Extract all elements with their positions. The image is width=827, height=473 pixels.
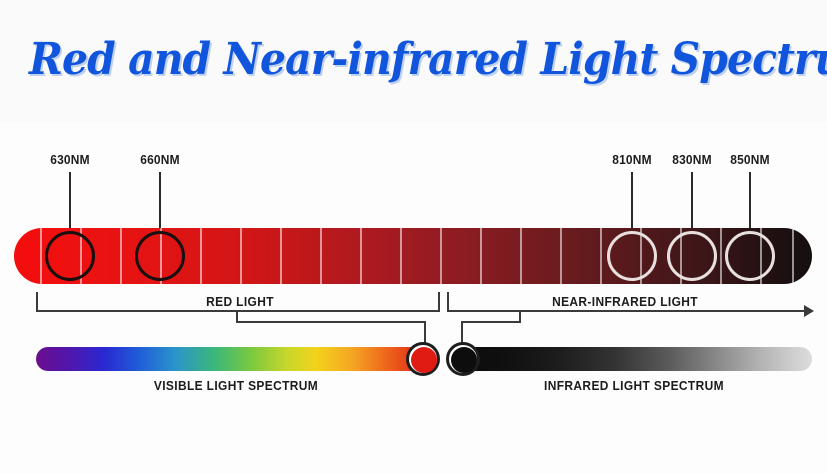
axis-nir-line bbox=[447, 310, 805, 312]
wavelength-ring-830nm bbox=[667, 231, 717, 281]
wavelength-label-810nm: 810NM bbox=[612, 152, 651, 167]
bar-tick bbox=[360, 228, 362, 284]
title-band: Red and Near-infrared Light Spectrums bbox=[0, 0, 827, 122]
spectrum-label-visible: VISIBLE LIGHT SPECTRUM bbox=[154, 378, 318, 393]
wavelength-ring-630nm bbox=[45, 231, 95, 281]
wavelength-label-850nm: 850NM bbox=[730, 152, 769, 167]
axis-arrow-icon bbox=[804, 305, 814, 317]
axis-red-light-line bbox=[36, 310, 440, 312]
wavelength-ring-810nm bbox=[607, 231, 657, 281]
axis-nir-start-cap bbox=[447, 292, 449, 312]
bracket-red-horizontal bbox=[236, 321, 426, 323]
section-label-red-light: RED LIGHT bbox=[206, 294, 274, 309]
infrared-light-spectrum-bar bbox=[452, 347, 812, 371]
infographic-root: Red and Near-infrared Light Spectrums 63… bbox=[0, 0, 827, 473]
bar-tick bbox=[792, 228, 794, 284]
visible-light-spectrum-bar bbox=[36, 347, 436, 371]
bar-tick bbox=[400, 228, 402, 284]
axis-red-light-end-cap bbox=[438, 292, 440, 312]
wavelength-label-660nm: 660NM bbox=[140, 152, 179, 167]
page-title: Red and Near-infrared Light Spectrums bbox=[29, 34, 798, 85]
bar-tick bbox=[280, 228, 282, 284]
bar-tick bbox=[480, 228, 482, 284]
bar-tick bbox=[560, 228, 562, 284]
bar-tick bbox=[600, 228, 602, 284]
bar-tick bbox=[520, 228, 522, 284]
wavelength-ring-660nm bbox=[135, 231, 185, 281]
bar-tick bbox=[720, 228, 722, 284]
junction-dot-infrared-fill bbox=[451, 347, 477, 373]
junction-dot-infrared bbox=[446, 342, 480, 376]
bar-tick bbox=[240, 228, 242, 284]
bar-tick bbox=[120, 228, 122, 284]
spectrum-label-infrared: INFRARED LIGHT SPECTRUM bbox=[544, 378, 724, 393]
bracket-nir-horizontal bbox=[461, 321, 521, 323]
section-label-near-infrared-light: NEAR-INFRARED LIGHT bbox=[552, 294, 698, 309]
wavelength-ring-850nm bbox=[725, 231, 775, 281]
wavelength-label-830nm: 830NM bbox=[672, 152, 711, 167]
bar-tick bbox=[320, 228, 322, 284]
wavelength-label-630nm: 630NM bbox=[50, 152, 89, 167]
axis-left-cap bbox=[36, 292, 38, 312]
bar-tick bbox=[40, 228, 42, 284]
bar-tick bbox=[200, 228, 202, 284]
bar-tick bbox=[440, 228, 442, 284]
junction-dot-red bbox=[406, 342, 440, 376]
junction-dot-red-fill bbox=[411, 347, 437, 373]
